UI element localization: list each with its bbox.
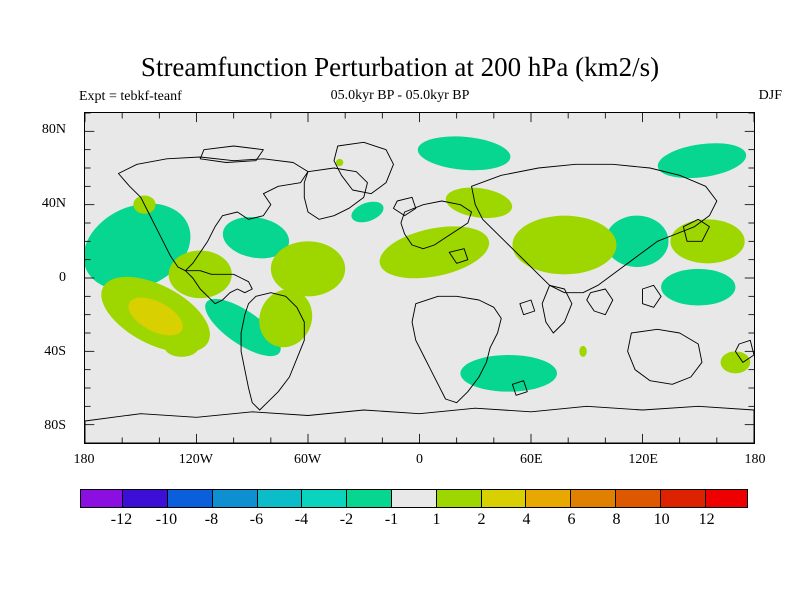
coastline-path [587,289,613,315]
anomaly-northeast-siberia [655,138,748,183]
page-title: Streamfunction Perturbation at 200 hPa (… [0,52,800,83]
colorbar-segment [615,490,660,507]
colorbar-tick-label: -4 [295,511,308,529]
coastline-path [628,329,702,384]
anomaly-north-africa-sahara [375,218,494,287]
colorbar-tick-label: 6 [568,511,576,529]
colorbar-tick-label: 4 [523,511,531,529]
colorbar-labels: -12-10-8-6-4-2-1124681012 [80,511,748,533]
y-tick-label: 80S [44,418,66,434]
x-tick-label: 180 [745,452,766,468]
anomaly-india-tibet [512,216,616,275]
colorbar[interactable] [80,489,748,508]
anomaly-west-pacific-equator [661,269,735,306]
anomaly-greenland-small [336,159,343,166]
colorbar-segment [436,490,481,507]
colorbar-segment [212,490,257,507]
colorbar-segment [257,490,302,507]
x-tick-label: 60E [520,452,543,468]
colorbar-segment [167,490,212,507]
colorbar-tick-label: -2 [340,511,353,529]
anomaly-mediterranean-turkey [444,184,514,222]
colorbar-tick-label: -6 [250,511,263,529]
x-tick-label: 0 [416,452,423,468]
colorbar-segment [346,490,391,507]
colorbar-segment [81,490,122,507]
colorbar-tick-label: -10 [156,511,177,529]
colorbar-segment [525,490,570,507]
y-axis-labels: 80N40N040S80S [0,112,76,444]
colorbar-tick-label: 12 [699,511,715,529]
x-tick-label: 60W [294,452,321,468]
world-map [84,112,755,444]
colorbar-segment [660,490,705,507]
anomaly-southwest-pacific [721,351,751,373]
colorbar-segment [122,490,167,507]
colorbar-tick-label: -8 [205,511,218,529]
colorbar-segment [570,490,615,507]
figure-canvas: Streamfunction Perturbation at 200 hPa (… [0,0,800,600]
anomaly-south-indian-ocean [460,355,557,392]
colorbar-segment [481,490,526,507]
colorbar-tick-label: 10 [654,511,670,529]
season-label: DJF [0,88,782,104]
colorbar-segment [301,490,346,507]
anomaly-north-atlantic [349,198,387,227]
anomaly-caribbean-atlantic [271,241,345,296]
y-tick-label: 80N [42,122,66,138]
anomaly-indian-ocean-small [579,346,586,357]
x-tick-label: 180 [74,452,95,468]
colorbar-segment [705,490,747,507]
x-tick-label: 120E [628,452,658,468]
anomaly-shading [84,133,750,392]
anomaly-scandinavia-barents [416,133,511,174]
map-plot-area [84,112,755,444]
colorbar-tick-label: -1 [385,511,398,529]
coastline-path [334,142,393,193]
colorbar-tick-label: -12 [111,511,132,529]
y-tick-label: 0 [59,270,66,286]
coastline-path [643,285,662,307]
x-tick-label: 120W [179,452,213,468]
colorbar-tick-label: 8 [613,511,621,529]
colorbar-segment [391,490,436,507]
colorbar-tick-label: 1 [433,511,441,529]
coastline-path [520,300,535,315]
colorbar-tick-label: 2 [478,511,486,529]
y-tick-label: 40N [42,196,66,212]
y-tick-label: 40S [44,344,66,360]
x-axis-labels: 180120W60W060E120E180 [84,452,755,472]
